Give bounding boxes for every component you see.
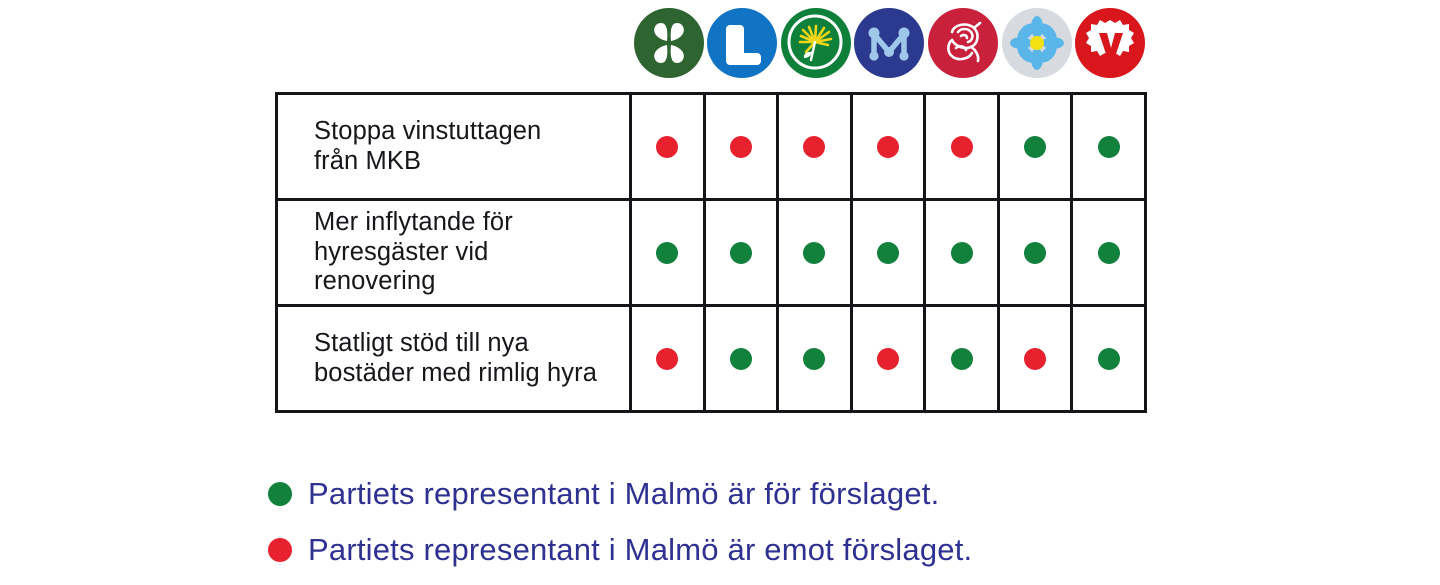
question-cell: Mer inflytande för hyresgäster vid renov…	[278, 201, 632, 304]
question-line-1: Mer inflytande för	[314, 208, 513, 236]
stance-cell-l	[706, 201, 780, 304]
legend-dot-for-icon	[268, 482, 292, 506]
question-cell: Statligt stöd till nya bostäder med riml…	[278, 307, 632, 410]
legend-label-against: Partiets representant i Malmö är emot fö…	[308, 532, 972, 568]
stance-dot-for	[1024, 242, 1046, 264]
stance-dot-against	[656, 136, 678, 158]
question-cell: Stoppa vinstuttagen från MKB	[278, 95, 632, 198]
stance-cell-m	[853, 201, 927, 304]
stance-cell-s	[926, 201, 1000, 304]
dandelion-logo-icon	[781, 8, 851, 78]
party-logo-cell-mp	[779, 4, 853, 82]
party-logo-cell-l	[706, 4, 780, 82]
stance-dot-for	[730, 348, 752, 370]
stance-dot-against	[951, 136, 973, 158]
stance-cell-v	[1073, 201, 1144, 304]
table-row: Mer inflytande för hyresgäster vid renov…	[278, 201, 1144, 307]
stance-dot-for	[1098, 242, 1120, 264]
stance-dot-against	[730, 136, 752, 158]
table-row: Stoppa vinstuttagen från MKB	[278, 95, 1144, 201]
stance-cell-sd	[1000, 307, 1074, 410]
question-line-1: Statligt stöd till nya	[314, 329, 529, 357]
stance-cell-sd	[1000, 95, 1074, 198]
letter-m-logo-icon	[854, 8, 924, 78]
question-text: Statligt stöd till nya bostäder med riml…	[314, 329, 597, 389]
stance-dot-for	[803, 242, 825, 264]
party-logo-cell-sd	[1000, 4, 1074, 82]
party-logo-cell-m	[853, 4, 927, 82]
stance-cell-c	[632, 201, 706, 304]
stance-dot-against	[803, 136, 825, 158]
stance-cell-mp	[779, 95, 853, 198]
stance-cell-mp	[779, 201, 853, 304]
legend: Partiets representant i Malmö är för för…	[268, 466, 1168, 578]
party-stance-table: Stoppa vinstuttagen från MKB Mer inflyta…	[275, 92, 1147, 413]
stance-dot-against	[1024, 348, 1046, 370]
stance-dot-for	[803, 348, 825, 370]
stance-cell-s	[926, 307, 1000, 410]
party-logo-cell-v	[1073, 4, 1147, 82]
stance-dot-for	[730, 242, 752, 264]
stance-dot-for	[1024, 136, 1046, 158]
stance-cell-m	[853, 307, 927, 410]
party-logo-cell-c	[632, 4, 706, 82]
stance-dot-for	[656, 242, 678, 264]
letter-l-logo-icon	[707, 8, 777, 78]
stance-dot-against	[877, 136, 899, 158]
rose-logo-icon	[928, 8, 998, 78]
legend-item-against: Partiets representant i Malmö är emot fö…	[268, 522, 1168, 578]
stance-dot-for	[1098, 136, 1120, 158]
question-line-2: från MKB	[314, 147, 541, 177]
stance-cell-s	[926, 95, 1000, 198]
stance-dot-for	[877, 242, 899, 264]
stance-dot-against	[656, 348, 678, 370]
question-line-2: bostäder med rimlig hyra	[314, 359, 597, 389]
stance-cell-sd	[1000, 201, 1074, 304]
stance-dot-for	[951, 242, 973, 264]
stance-cell-l	[706, 95, 780, 198]
question-text: Mer inflytande för hyresgäster vid renov…	[314, 208, 607, 297]
table-row: Statligt stöd till nya bostäder med riml…	[278, 307, 1144, 410]
question-line-2: hyresgäster vid renovering	[314, 238, 607, 298]
stance-dot-for	[951, 348, 973, 370]
clover-logo-icon	[634, 8, 704, 78]
question-line-1: Stoppa vinstuttagen	[314, 117, 541, 145]
party-logo-strip	[632, 4, 1147, 82]
stance-cell-v	[1073, 95, 1144, 198]
stance-dot-against	[877, 348, 899, 370]
stance-cell-c	[632, 307, 706, 410]
stance-cell-m	[853, 95, 927, 198]
question-text: Stoppa vinstuttagen från MKB	[314, 117, 541, 177]
legend-item-for: Partiets representant i Malmö är för för…	[268, 466, 1168, 522]
blue-flower-logo-icon	[1002, 8, 1072, 78]
stance-cell-mp	[779, 307, 853, 410]
stance-cell-c	[632, 95, 706, 198]
party-logo-cell-s	[926, 4, 1000, 82]
stance-dot-for	[1098, 348, 1120, 370]
legend-dot-against-icon	[268, 538, 292, 562]
letter-v-logo-icon	[1075, 8, 1145, 78]
stance-cell-v	[1073, 307, 1144, 410]
legend-label-for: Partiets representant i Malmö är för för…	[308, 476, 939, 512]
stance-cell-l	[706, 307, 780, 410]
